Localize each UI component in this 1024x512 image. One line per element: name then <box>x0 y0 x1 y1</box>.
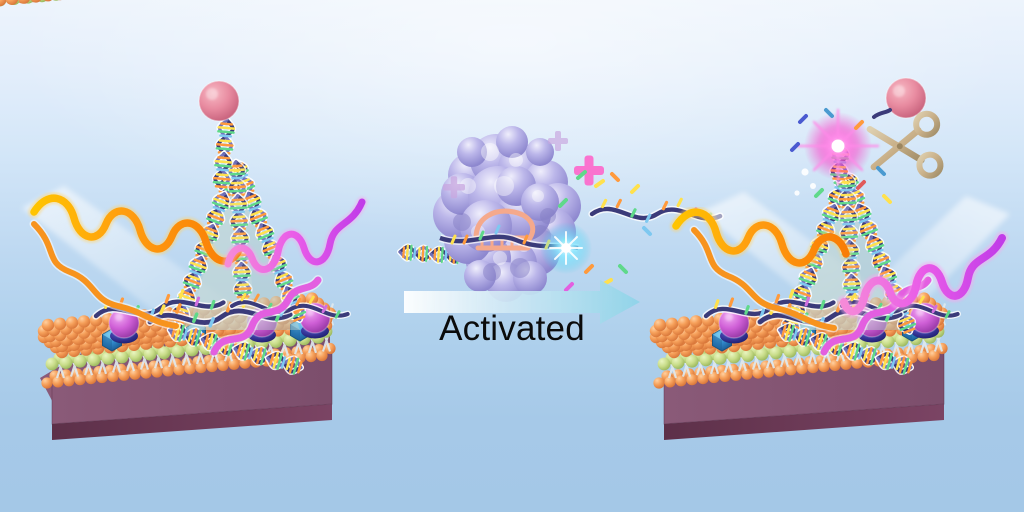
panel-left-inactive <box>0 0 362 440</box>
scene-vector-layer <box>0 0 1024 512</box>
right-released-reporter-bead <box>886 78 926 118</box>
illustration-canvas: Activated <box>0 0 1024 512</box>
plus-symbol-2 <box>574 156 604 186</box>
center-cleavage-spark <box>540 222 592 274</box>
activation-arrow-label: Activated <box>397 309 627 349</box>
right-detached-linker-stub <box>874 110 890 117</box>
cas12a-protein <box>433 126 581 302</box>
left-raman-reporter-bead <box>199 81 239 121</box>
panel-right-activated <box>650 78 1010 440</box>
